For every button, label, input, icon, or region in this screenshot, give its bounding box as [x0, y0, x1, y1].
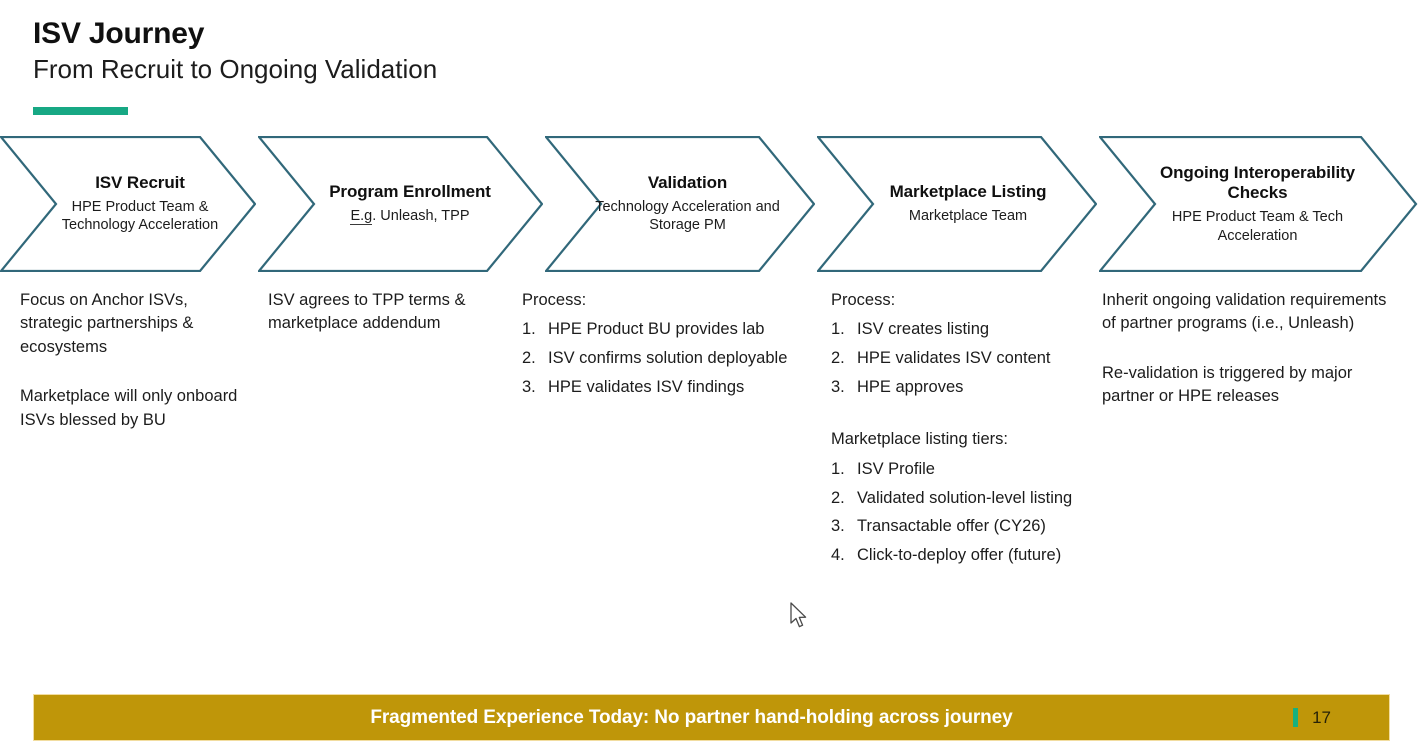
listing-tiers-list: 1.ISV Profile 2.Validated solution-level…: [831, 458, 1101, 569]
stage-title: Marketplace Listing: [890, 182, 1047, 202]
detail-column-ongoing-interoperability-checks: Inherit ongoing validation requirements …: [1102, 289, 1390, 409]
detail-column-isv-recruit: Focus on Anchor ISVs, strategic partners…: [20, 289, 250, 432]
title-accent-bar: [33, 107, 128, 115]
page-title: ISV Journey: [33, 18, 437, 50]
list-text: HPE validates ISV content: [857, 349, 1051, 367]
list-item: 2.ISV confirms solution deployable: [522, 347, 822, 371]
stage-label-ongoing-interoperability-checks: Ongoing Interoperability Checks HPE Prod…: [1130, 136, 1385, 272]
list-number: 4.: [831, 544, 845, 568]
stage-title: ISV Recruit: [95, 173, 185, 193]
journey-stage-band: ISV Recruit HPE Product Team & Technolog…: [0, 136, 1419, 272]
stage-subtitle-line1: HPE Product Team & Tech: [1172, 208, 1343, 227]
list-item: 2.HPE validates ISV content: [831, 347, 1101, 371]
page-subtitle: From Recruit to Ongoing Validation: [33, 55, 437, 85]
process-list: 1.ISV creates listing 2.HPE validates IS…: [831, 318, 1101, 400]
stage-title: Program Enrollment: [329, 182, 491, 202]
detail-lead-label: Process:: [831, 289, 1101, 312]
list-item: 3.Transactable offer (CY26): [831, 515, 1101, 539]
footer-banner: Fragmented Experience Today: No partner …: [33, 694, 1390, 741]
stage-subtitle-prefix: E.g: [350, 208, 372, 225]
footer-banner-text: Fragmented Experience Today: No partner …: [370, 707, 1012, 729]
stage-subtitle-line2: Storage PM: [649, 216, 726, 235]
stage-title-line1: Ongoing Interoperability: [1160, 163, 1355, 183]
list-number: 1.: [831, 318, 845, 342]
list-item: 3.HPE approves: [831, 376, 1101, 400]
mouse-cursor-icon: [788, 601, 810, 631]
detail-paragraph: Focus on Anchor ISVs, strategic partners…: [20, 289, 250, 359]
detail-paragraph: Re-validation is triggered by major part…: [1102, 362, 1390, 409]
stage-subtitle-line1: Marketplace Team: [909, 207, 1027, 226]
page-tick-icon: [1293, 708, 1298, 727]
list-item: 1.ISV Profile: [831, 458, 1101, 482]
title-block: ISV Journey From Recruit to Ongoing Vali…: [33, 18, 437, 85]
list-text: Transactable offer (CY26): [857, 517, 1046, 535]
spacer: [20, 359, 250, 385]
list-item: 3.HPE validates ISV findings: [522, 376, 822, 400]
process-list: 1.HPE Product BU provides lab 2.ISV conf…: [522, 318, 822, 400]
list-item: 1.ISV creates listing: [831, 318, 1101, 342]
detail-lead-label: Process:: [522, 289, 822, 312]
page-marker: 17: [1293, 708, 1331, 728]
stage-subtitle-line2: Technology Acceleration: [62, 216, 218, 235]
list-item: 4.Click-to-deploy offer (future): [831, 544, 1101, 568]
detail-column-program-enrollment: ISV agrees to TPP terms & marketplace ad…: [268, 289, 504, 336]
list-text: ISV Profile: [857, 460, 935, 478]
detail-paragraph: Marketplace will only onboard ISVs bless…: [20, 385, 250, 432]
detail-paragraph: ISV agrees to TPP terms & marketplace ad…: [268, 289, 504, 336]
detail-column-validation: Process: 1.HPE Product BU provides lab 2…: [522, 289, 822, 405]
list-text: HPE Product BU provides lab: [548, 320, 764, 338]
list-item: 2.Validated solution-level listing: [831, 487, 1101, 511]
stage-subtitle-line1: HPE Product Team &: [72, 198, 209, 217]
list-number: 1.: [831, 458, 845, 482]
list-text: HPE approves: [857, 378, 963, 396]
list-text: ISV creates listing: [857, 320, 989, 338]
list-text: HPE validates ISV findings: [548, 378, 744, 396]
spacer: [831, 405, 1101, 428]
listing-tiers-lead-label: Marketplace listing tiers:: [831, 428, 1101, 451]
stage-subtitle-line2: Acceleration: [1218, 227, 1298, 246]
stage-label-validation: Validation Technology Acceleration and S…: [580, 136, 795, 272]
stage-title-line2: Checks: [1228, 183, 1288, 203]
stage-title: Validation: [648, 173, 727, 193]
stage-label-program-enrollment: Program Enrollment E.g. Unleash, TPP: [300, 136, 520, 272]
spacer: [1102, 336, 1390, 362]
stage-subtitle-rest: . Unleash, TPP: [372, 208, 469, 224]
list-number: 2.: [522, 347, 536, 371]
list-number: 2.: [831, 347, 845, 371]
list-number: 1.: [522, 318, 536, 342]
stage-label-marketplace-listing: Marketplace Listing Marketplace Team: [855, 136, 1081, 272]
list-number: 3.: [831, 515, 845, 539]
detail-column-marketplace-listing: Process: 1.ISV creates listing 2.HPE val…: [831, 289, 1101, 573]
page-number: 17: [1312, 708, 1331, 728]
list-number: 3.: [831, 376, 845, 400]
stage-label-isv-recruit: ISV Recruit HPE Product Team & Technolog…: [40, 136, 240, 272]
list-text: ISV confirms solution deployable: [548, 349, 787, 367]
stage-subtitle-line1: Technology Acceleration and: [595, 198, 780, 217]
list-number: 3.: [522, 376, 536, 400]
list-text: Click-to-deploy offer (future): [857, 546, 1061, 564]
detail-paragraph: Inherit ongoing validation requirements …: [1102, 289, 1390, 336]
list-text: Validated solution-level listing: [857, 489, 1072, 507]
list-number: 2.: [831, 487, 845, 511]
list-item: 1.HPE Product BU provides lab: [522, 318, 822, 342]
stage-subtitle: E.g. Unleash, TPP: [350, 207, 469, 226]
